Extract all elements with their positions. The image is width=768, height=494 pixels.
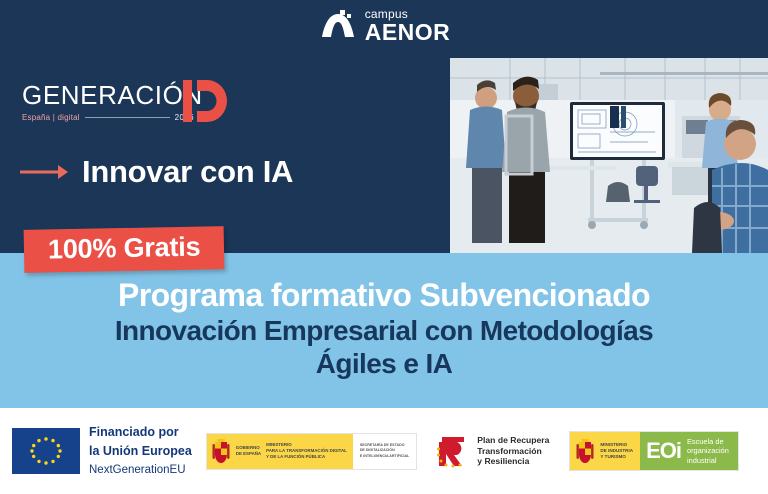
secretaria-line-3: E INTELIGENCIA ARTIFICIAL bbox=[360, 454, 409, 459]
ministerio-label: MINISTERIO PARA LA TRANSFORMACIÓN DIGITA… bbox=[266, 442, 347, 460]
gobierno-espana-logo: GOBIERNO DE ESPAÑA MINISTERIO PARA LA TR… bbox=[206, 433, 417, 470]
eoi-description: Escuela de organización industrial bbox=[687, 437, 729, 464]
spain-coat-of-arms-icon bbox=[211, 438, 231, 464]
secretaria-label: SECRETARÍA DE ESTADO DE DIGITALIZACIÓN E… bbox=[360, 443, 409, 459]
eu-line-1: Financiado por bbox=[89, 425, 179, 439]
spain-coat-of-arms-icon bbox=[575, 438, 595, 464]
prtr-line-1: Plan de Recupera bbox=[477, 435, 549, 445]
letter-d-mark-icon bbox=[183, 78, 227, 124]
plan-recuperacion-logo: Plan de Recupera Transformación y Resili… bbox=[435, 434, 549, 468]
promo-banner: campus AENOR bbox=[0, 0, 768, 494]
hero-headline-row: Innovar con IA bbox=[20, 156, 293, 187]
right-arrow-icon bbox=[20, 161, 68, 183]
campus-aenor-wordmark: campus AENOR bbox=[365, 8, 451, 44]
footer-logos: Financiado por la Unión Europea NextGene… bbox=[0, 408, 768, 494]
eu-funding-logo: Financiado por la Unión Europea NextGene… bbox=[12, 423, 192, 480]
generacion-d-logo: GENERACIÓN España | digital 2026 bbox=[22, 82, 222, 132]
eoi-green-block: EOi Escuela de organización industrial bbox=[640, 432, 738, 470]
eoi-desc-line-3: industrial bbox=[687, 456, 729, 465]
gobierno-yellow-block: GOBIERNO DE ESPAÑA MINISTERIO PARA LA TR… bbox=[207, 434, 353, 469]
gobierno-line-2: DE ESPAÑA bbox=[236, 451, 261, 457]
brand-bar: campus AENOR bbox=[0, 0, 768, 52]
page-subtitle-line2: Ágiles e IA bbox=[0, 348, 768, 379]
headline-block: Programa formativo Subvencionado Innovac… bbox=[0, 278, 768, 379]
generacion-tagline-row: España | digital 2026 bbox=[22, 113, 194, 122]
hero-headline: Innovar con IA bbox=[82, 156, 293, 187]
european-union-flag-icon bbox=[12, 428, 80, 474]
eu-line-3: NextGenerationEU bbox=[89, 464, 186, 476]
gobierno-label: GOBIERNO DE ESPAÑA bbox=[236, 445, 261, 457]
tagline-divider bbox=[85, 117, 170, 118]
prtr-line-3: y Resiliencia bbox=[477, 456, 549, 466]
page-title: Programa formativo Subvencionado bbox=[0, 278, 768, 313]
espana-digital-label: España | digital bbox=[22, 113, 80, 122]
ministerio-industria-block: MINISTERIO DE INDUSTRIA Y TURISMO bbox=[570, 432, 640, 470]
plan-recuperacion-text: Plan de Recupera Transformación y Resili… bbox=[477, 435, 549, 466]
page-subtitle-line1: Innovación Empresarial con Metodologías bbox=[0, 315, 768, 346]
eoi-logo: MINISTERIO DE INDUSTRIA Y TURISMO EOi Es… bbox=[569, 431, 739, 471]
plan-recuperacion-r-icon bbox=[435, 434, 471, 468]
campus-aenor-logo-icon bbox=[318, 9, 358, 43]
ministerio-industria-label: MINISTERIO DE INDUSTRIA Y TURISMO bbox=[600, 442, 633, 461]
eoi-desc-line-2: organización bbox=[687, 446, 729, 455]
eoi-wordmark: EOi bbox=[646, 440, 681, 462]
prtr-line-2: Transformación bbox=[477, 446, 549, 456]
ministerio-line-3: Y DE LA FUNCIÓN PÚBLICA bbox=[266, 454, 347, 460]
secretaria-estado-block: SECRETARÍA DE ESTADO DE DIGITALIZACIÓN E… bbox=[353, 434, 416, 469]
aenor-label: AENOR bbox=[365, 21, 451, 44]
industria-line-3: Y TURISMO bbox=[600, 454, 633, 460]
eu-funding-text: Financiado por la Unión Europea NextGene… bbox=[89, 423, 192, 480]
status-badge: 100% Gratis bbox=[24, 226, 225, 273]
office-meeting-photo bbox=[450, 58, 768, 253]
eoi-desc-line-1: Escuela de bbox=[687, 437, 729, 446]
eu-line-2: la Unión Europea bbox=[89, 444, 192, 458]
